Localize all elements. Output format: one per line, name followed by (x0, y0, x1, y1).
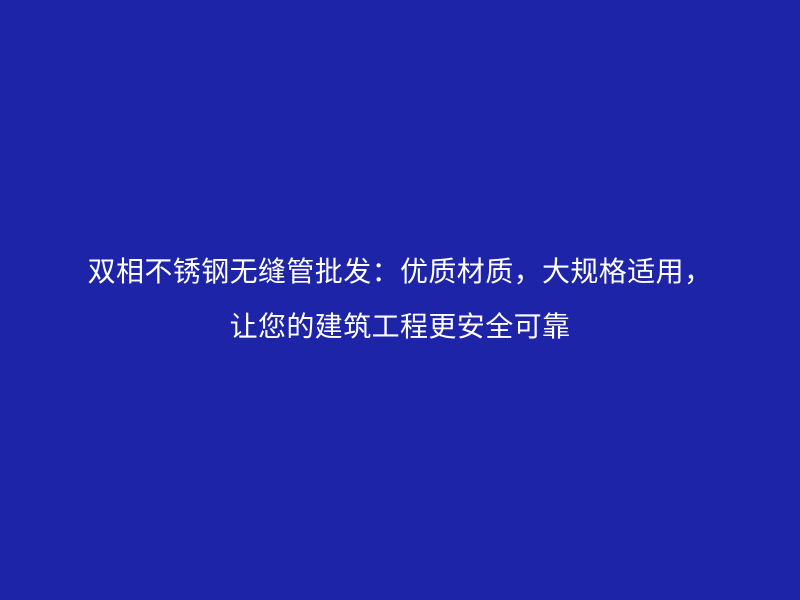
headline-line-2: 让您的建筑工程更安全可靠 (24, 299, 776, 354)
page-title: 双相不锈钢无缝管批发：优质材质，大规格适用， 让您的建筑工程更安全可靠 (24, 244, 776, 354)
headline-line-1: 双相不锈钢无缝管批发：优质材质，大规格适用， (24, 244, 776, 299)
headline-block: 双相不锈钢无缝管批发：优质材质，大规格适用， 让您的建筑工程更安全可靠 (0, 244, 800, 354)
title-card-canvas: 双相不锈钢无缝管批发：优质材质，大规格适用， 让您的建筑工程更安全可靠 (0, 0, 800, 600)
